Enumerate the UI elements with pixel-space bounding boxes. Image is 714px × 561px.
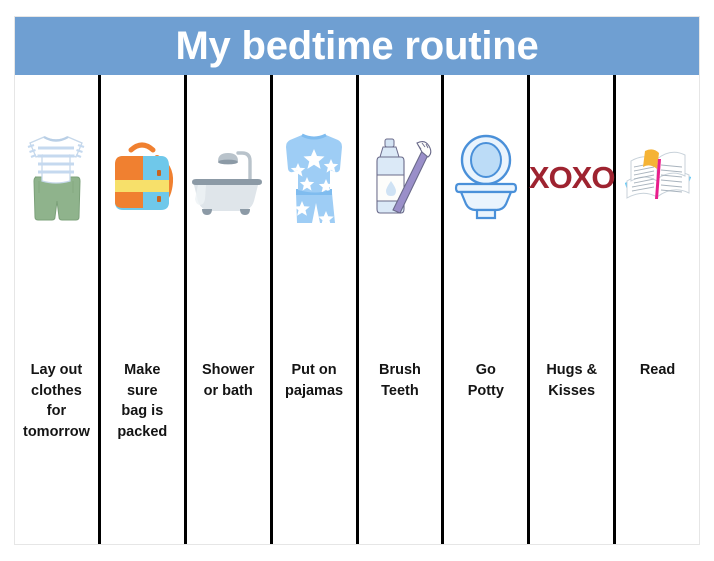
- xoxo-glyph-text: XOXO: [529, 162, 615, 193]
- routine-step-label: Make sure bag is packed: [101, 360, 184, 442]
- bedtime-routine-chart: My bedtime routine: [0, 0, 714, 561]
- routine-step-label: Lay out clothes for tomorrow: [15, 360, 98, 442]
- routine-step-label: Hugs & Kisses: [530, 360, 613, 401]
- routine-table: My bedtime routine: [14, 16, 700, 545]
- chart-header-band: My bedtime routine: [15, 17, 699, 75]
- toilet-icon: [444, 127, 527, 227]
- routine-step-hugs-and-kisses[interactable]: XOXO Hugs & Kisses: [530, 75, 616, 544]
- routine-step-brush-teeth[interactable]: Brush Teeth: [359, 75, 445, 544]
- xoxo-text-icon: XOXO: [530, 127, 613, 227]
- clothes-outfit-icon: [15, 127, 98, 227]
- routine-step-put-on-pajamas[interactable]: Put on pajamas: [273, 75, 359, 544]
- open-book-icon: [616, 127, 699, 227]
- routine-step-label: Brush Teeth: [359, 360, 442, 401]
- backpack-icon: [101, 127, 184, 227]
- routine-columns: Lay out clothes for tomorrow: [15, 75, 699, 544]
- routine-step-label: Shower or bath: [187, 360, 270, 401]
- routine-step-go-potty[interactable]: Go Potty: [444, 75, 530, 544]
- routine-step-shower-or-bath[interactable]: Shower or bath: [187, 75, 273, 544]
- routine-step-lay-out-clothes[interactable]: Lay out clothes for tomorrow: [15, 75, 101, 544]
- bathtub-shower-icon: [187, 127, 270, 227]
- routine-step-read[interactable]: Read: [616, 75, 699, 544]
- routine-step-label: Go Potty: [444, 360, 527, 401]
- pajamas-icon: [273, 127, 356, 227]
- page-title: My bedtime routine: [175, 26, 538, 66]
- routine-step-label: Read: [616, 360, 699, 381]
- routine-step-pack-bag[interactable]: Make sure bag is packed: [101, 75, 187, 544]
- toothbrush-toothpaste-icon: [359, 127, 442, 227]
- routine-step-label: Put on pajamas: [273, 360, 356, 401]
